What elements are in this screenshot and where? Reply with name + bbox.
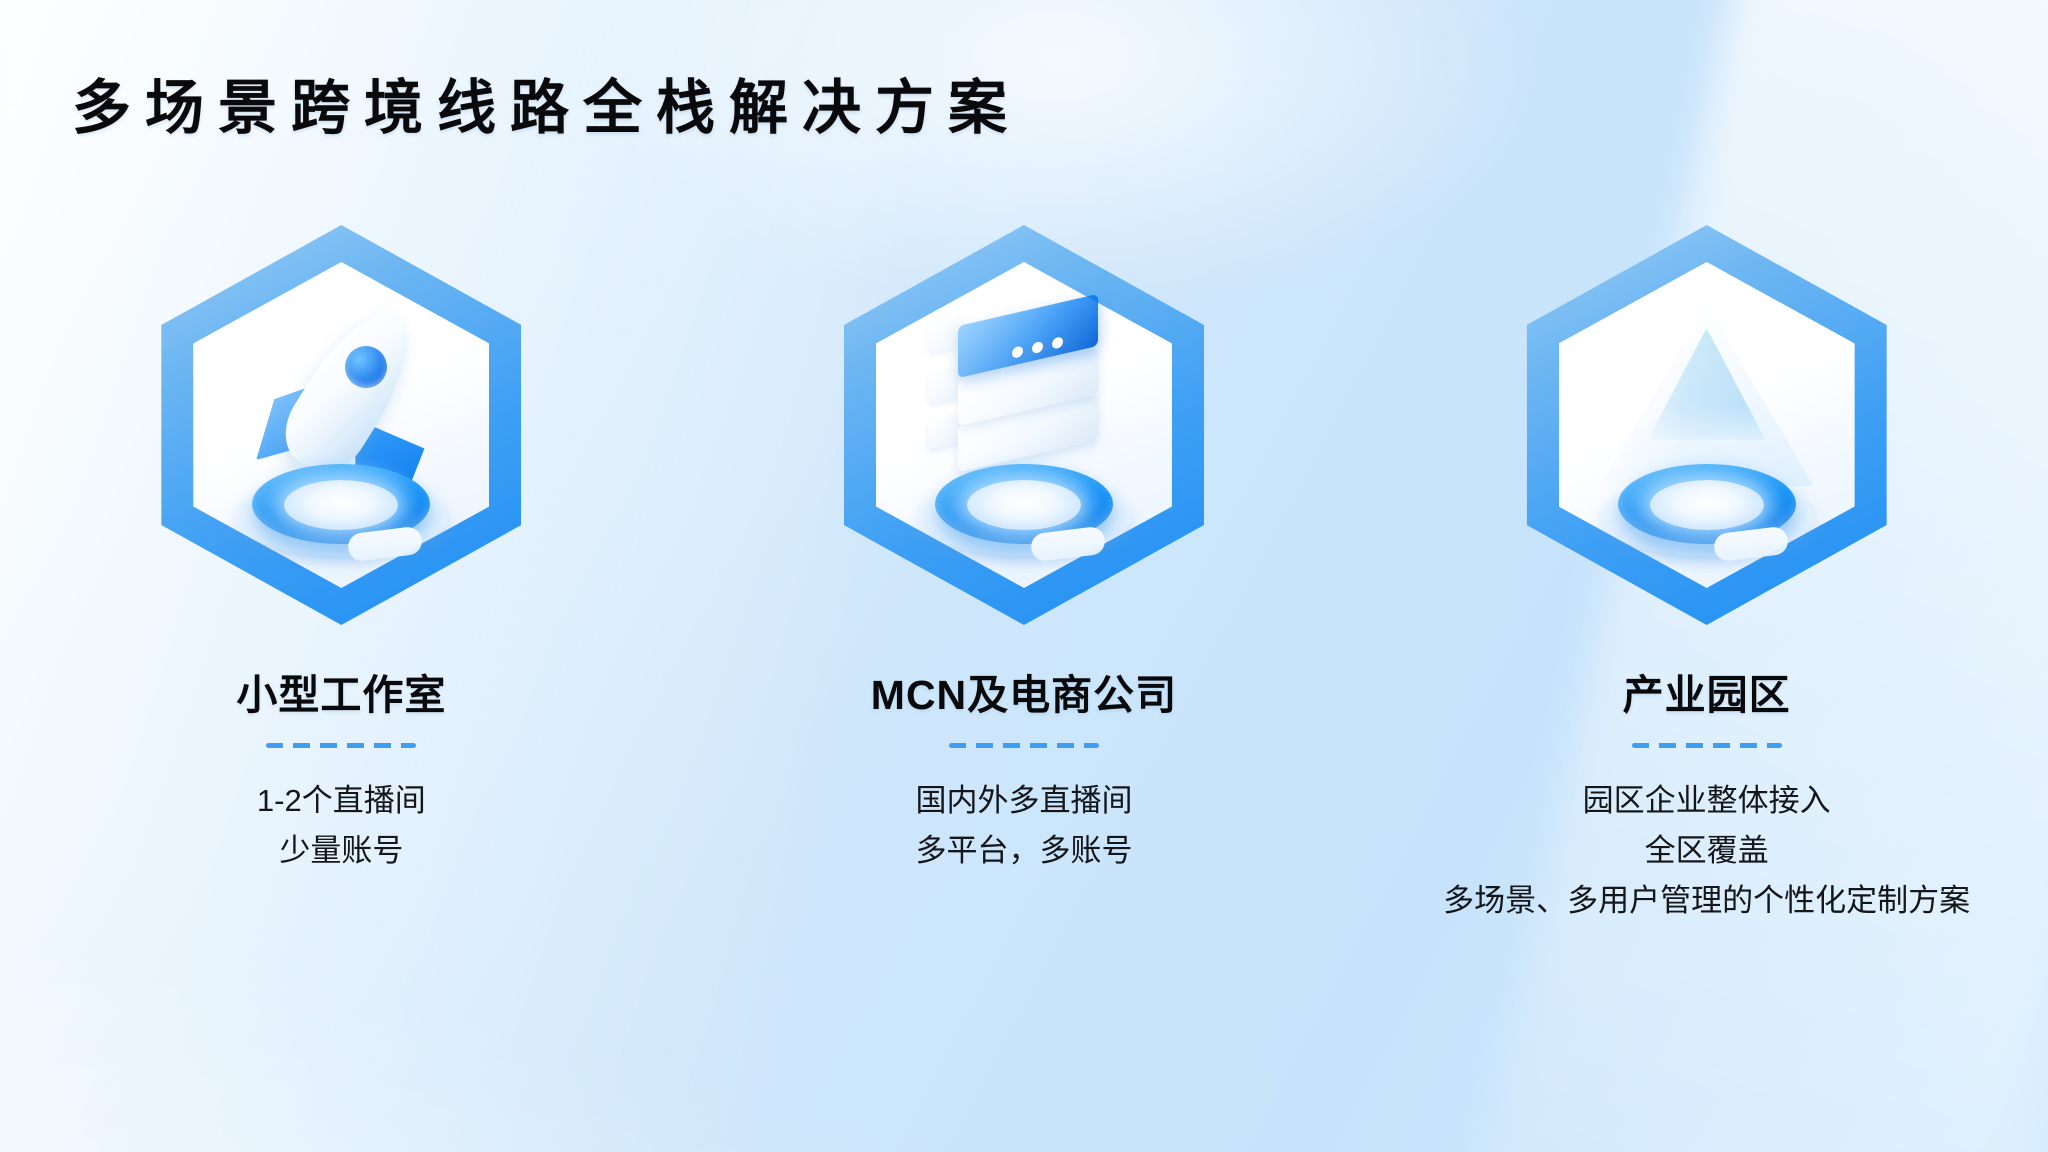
card-title: 产业园区 <box>1623 661 1791 721</box>
card-description: 园区企业整体接入 全区覆盖 多场景、多用户管理的个性化定制方案 <box>1443 776 1970 927</box>
hexagon-badge-2 <box>824 215 1224 635</box>
dashed-divider <box>266 743 416 748</box>
dashed-divider <box>1632 743 1782 748</box>
glow-disc-base-icon <box>1600 464 1814 560</box>
dashed-divider <box>949 743 1099 748</box>
disc-glow <box>1650 480 1764 530</box>
server-ear <box>928 412 962 450</box>
card-description: 1-2个直播间 少量账号 <box>257 776 426 876</box>
card-description-line: 国内外多直播间 <box>915 776 1132 826</box>
glass-pyramid-3d-icon <box>1559 262 1855 588</box>
glow-disc-base-icon <box>234 464 448 560</box>
server-stack-3d-icon <box>876 262 1172 588</box>
card-description-line: 多场景、多用户管理的个性化定制方案 <box>1443 876 1970 926</box>
card-description-line: 多平台，多账号 <box>915 826 1132 876</box>
page-title: 多场景跨境线路全栈解决方案 <box>72 60 1021 145</box>
hexagon-badge-1 <box>141 215 541 635</box>
card-description-line: 1-2个直播间 <box>257 776 426 826</box>
pyramid-highlight <box>1600 304 1814 486</box>
scenario-card-small-studio[interactable]: 小型工作室 1-2个直播间 少量账号 <box>41 215 641 876</box>
server-stack <box>928 298 1124 488</box>
server-ear <box>928 366 962 404</box>
glow-disc-base-icon <box>917 464 1131 560</box>
rocket-3d-icon <box>193 262 489 588</box>
card-description-line: 园区企业整体接入 <box>1443 776 1970 826</box>
card-title: 小型工作室 <box>236 661 446 721</box>
server-ear <box>928 316 962 354</box>
scenario-card-industrial-park[interactable]: 产业园区 园区企业整体接入 全区覆盖 多场景、多用户管理的个性化定制方案 <box>1407 215 2007 927</box>
hexagon-badge-3 <box>1507 215 1907 635</box>
card-title: MCN及电商公司 <box>871 661 1177 721</box>
disc-glow <box>284 480 398 530</box>
solution-scenario-cards: 小型工作室 1-2个直播间 少量账号 <box>0 215 2048 1075</box>
card-description-line: 少量账号 <box>257 826 426 876</box>
card-description: 国内外多直播间 多平台，多账号 <box>915 776 1132 876</box>
disc-glow <box>967 480 1081 530</box>
scenario-card-mcn-ecommerce[interactable]: MCN及电商公司 国内外多直播间 多平台，多账号 <box>724 215 1324 876</box>
card-description-line: 全区覆盖 <box>1443 826 1970 876</box>
